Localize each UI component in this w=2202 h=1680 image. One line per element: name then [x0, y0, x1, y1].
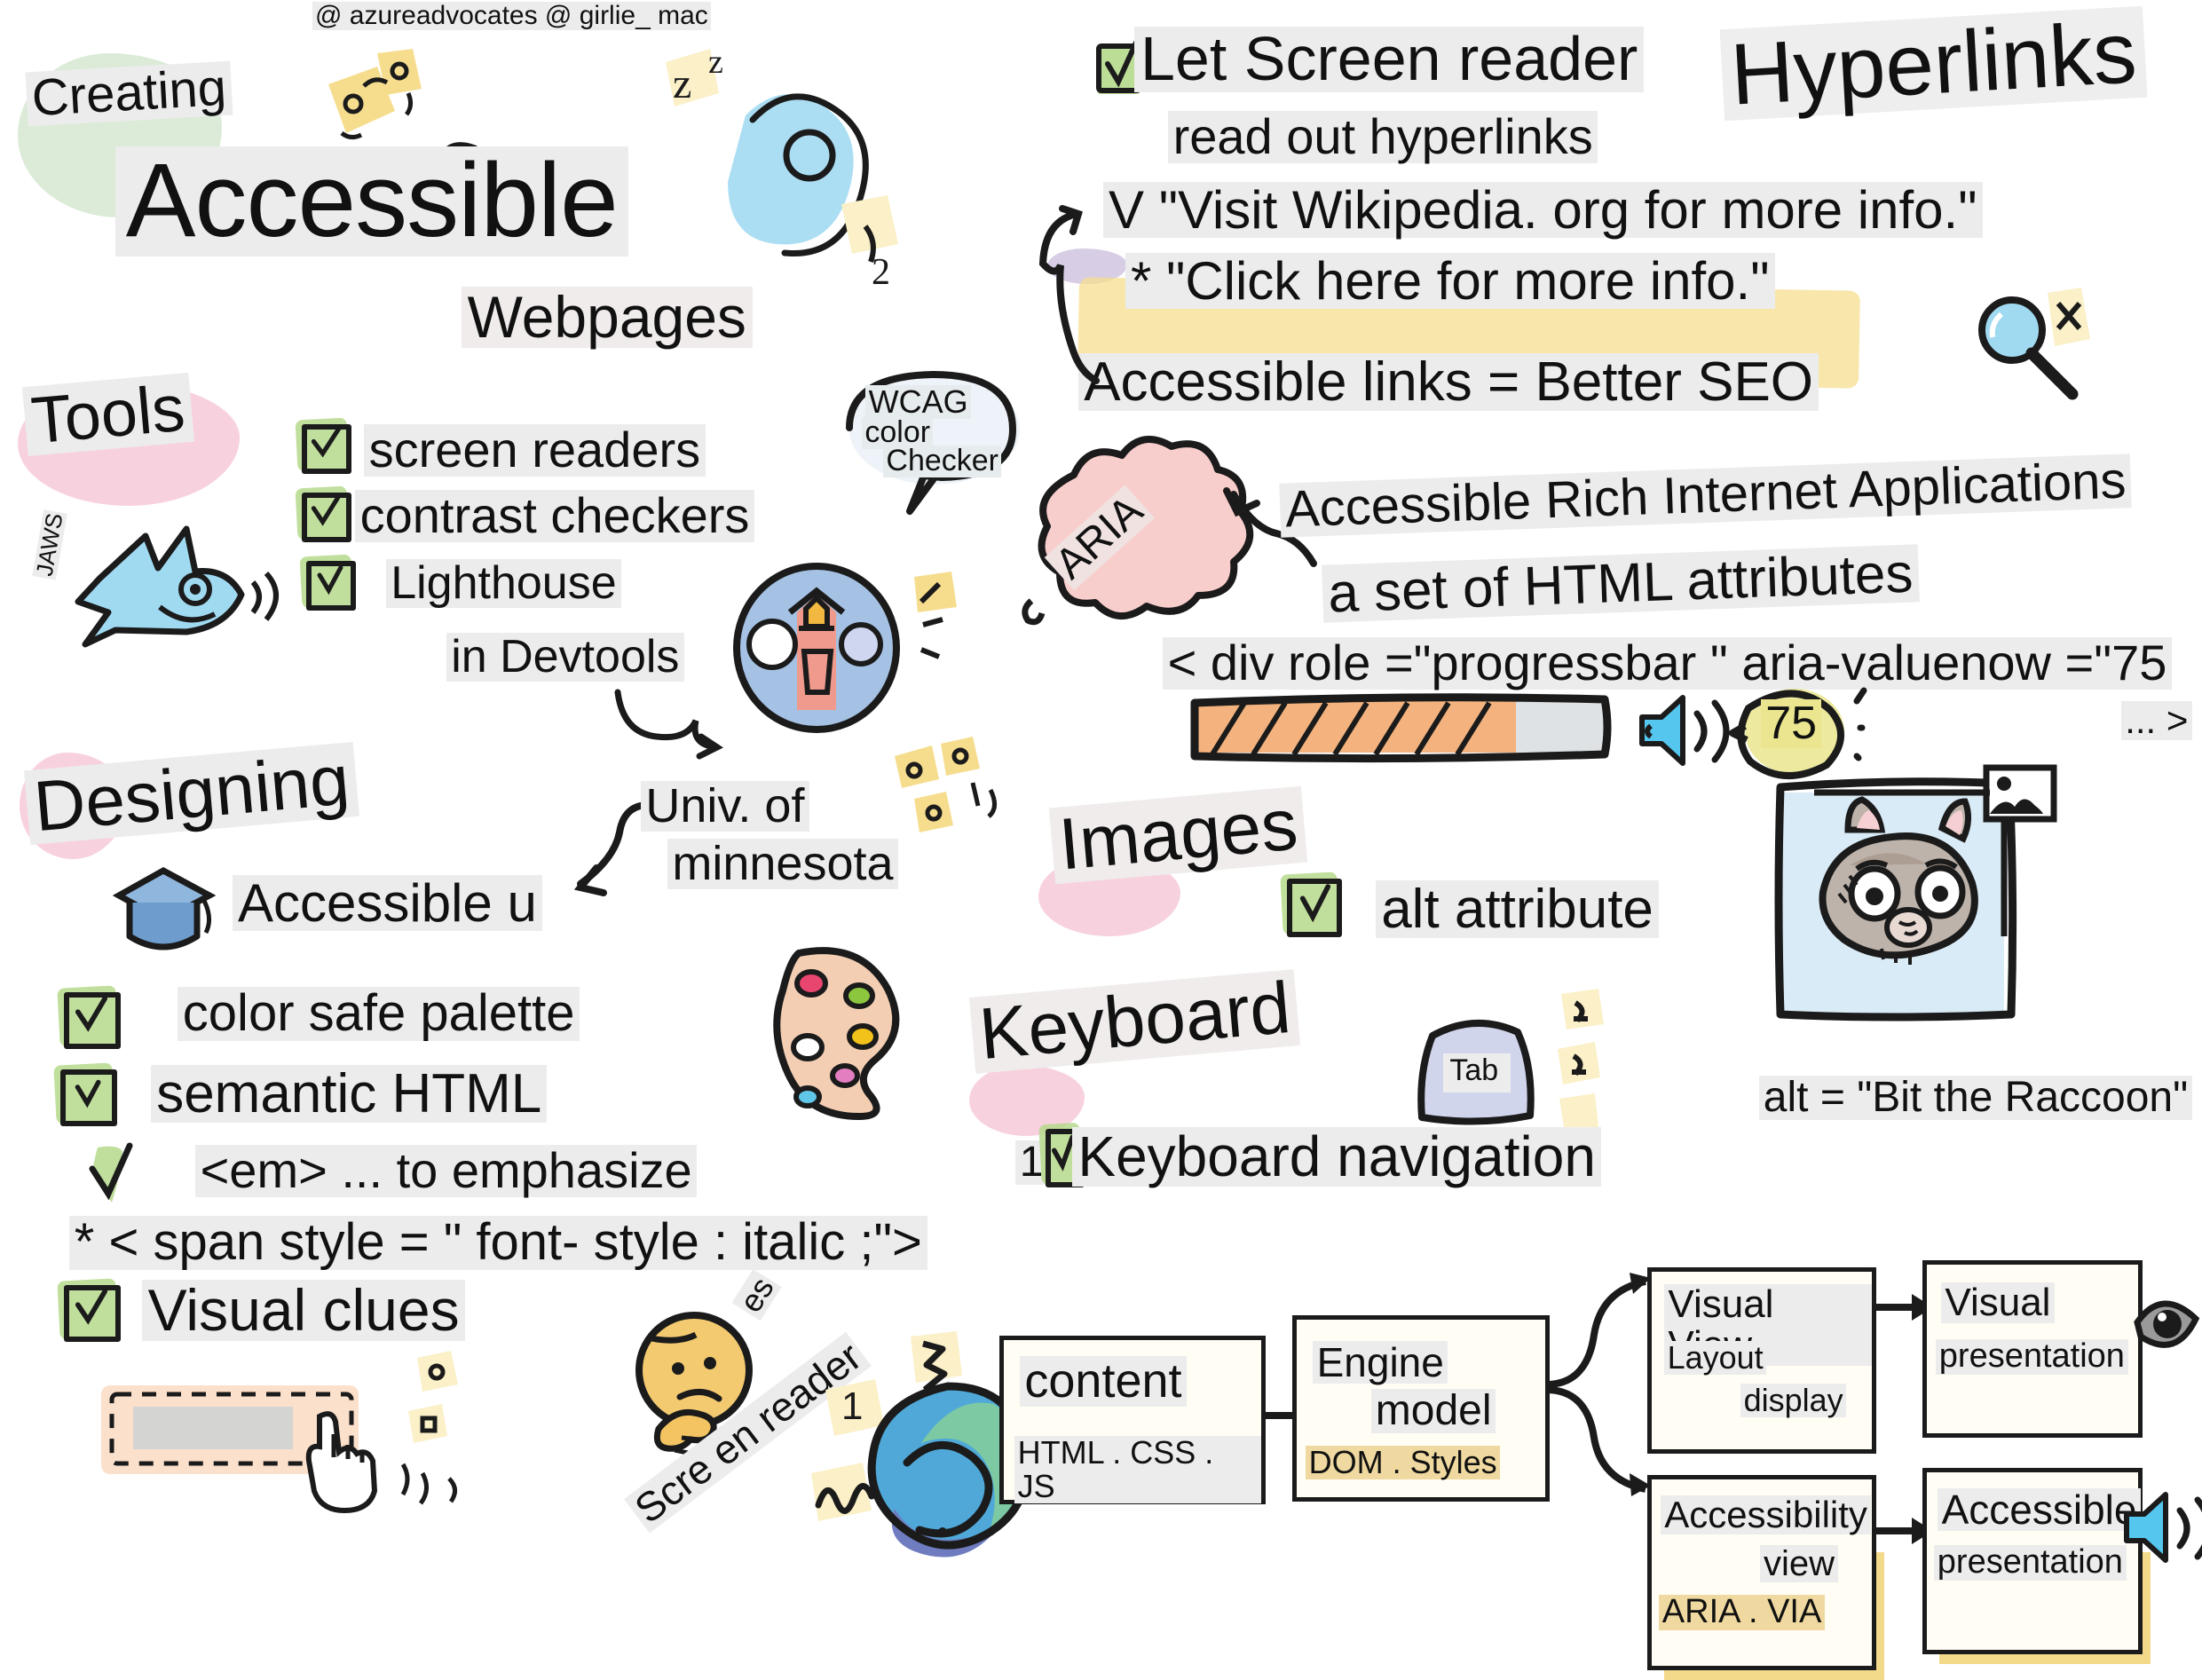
designing-item-semantic-html: semantic HTML	[151, 1065, 547, 1123]
sketchnote-canvas: @ azureadvocates @ girlie_ mac Creating …	[0, 0, 2202, 1552]
hyperlinks-checkbox-line2: read out hyperlinks	[1168, 111, 1598, 163]
flow-node-content: content HTML . CSS . JS	[999, 1336, 1266, 1504]
tab-key-label: Tab	[1447, 1055, 1502, 1087]
keyboard-nav-label: Keyboard navigation	[1072, 1127, 1601, 1187]
title-creating: Creating	[25, 61, 233, 127]
credits: @ azureadvocates @ girlie_ mac	[312, 2, 711, 30]
keyboard-heading: Keyboard	[969, 969, 1301, 1074]
flow-node-visual-presentation-sub: presentation	[1936, 1339, 2128, 1375]
checkbox-alt-attribute[interactable]	[1287, 879, 1342, 937]
check-icon	[85, 1142, 147, 1208]
sparkle-doodles-visual	[391, 1349, 497, 1518]
title-webpages-text: Webpages	[462, 287, 753, 348]
checkbox-em-emphasize[interactable]	[85, 1142, 135, 1195]
flow-node-engine-sub: DOM . Styles	[1306, 1446, 1500, 1479]
hyperlinks-bad-example: * "Click here for more info."	[1125, 253, 1775, 309]
images-heading-text: Images	[1049, 786, 1308, 885]
checkbox-contrast-checkers[interactable]	[302, 493, 351, 542]
confetti-doodle	[888, 737, 1030, 879]
flow-node-visual-view: Visual View Layout display	[1647, 1267, 1876, 1454]
tab-key-icon: Tab	[1402, 998, 1562, 1132]
flow-node-content-sub: HTML . CSS . JS	[1014, 1436, 1261, 1503]
course-source-line1: Univ. of	[641, 781, 809, 832]
hyperlinks-heading: Hyperlinks	[1720, 6, 2148, 121]
hyperlinks-seo-note: Accessible links = Better SEO	[1078, 353, 1819, 411]
title-webpages: Webpages	[462, 287, 753, 348]
lighthouse-sub: in Devtools	[446, 633, 684, 682]
flow-node-visual-view-sub: Layout	[1664, 1341, 1766, 1375]
credits-text: @ azureadvocates @ girlie_ mac	[312, 2, 711, 30]
check-icon	[73, 1075, 105, 1114]
tab-arrow-doodles	[1549, 985, 1638, 1136]
magnifier-icon	[1966, 284, 2108, 417]
title-creating-text: Creating	[25, 61, 233, 127]
tool-item-screen-readers-label: screen readers	[364, 424, 706, 477]
designing-antipattern: * < span style = " font- style : italic …	[69, 1216, 927, 1270]
lighthouse-sub-text: in Devtools	[446, 633, 684, 682]
tool-item-lighthouse-label: Lighthouse	[386, 559, 621, 608]
aria-code: < div role ="progressbar " aria-valuenow…	[1163, 637, 2172, 690]
eye-icon	[2121, 1278, 2202, 1367]
cursor-icon	[293, 1408, 391, 1514]
check-icon	[75, 996, 108, 1037]
flow-node-accessibility-view-sub: ARIA . VIA	[1659, 1595, 1825, 1630]
alt-value: alt = "Bit the Raccoon"	[1759, 1076, 2192, 1120]
flow-node-accessibility-view-title: Accessibility	[1661, 1495, 1871, 1534]
wcag-bubble-line3: Checker	[883, 446, 1001, 477]
checkbox-screen-readers[interactable]	[302, 424, 351, 474]
flow-node-visual-presentation-title: Visual	[1941, 1282, 2055, 1323]
tools-heading-text: Tools	[22, 373, 194, 456]
check-icon	[311, 494, 341, 530]
tool-item-contrast-checkers-label: contrast checkers	[355, 490, 754, 542]
flow-node-visual-presentation: Visual presentation	[1922, 1260, 2143, 1438]
alt-attribute-label: alt attribute	[1376, 880, 1659, 938]
flow-node-engine: Engine model DOM . Styles	[1292, 1315, 1550, 1502]
visual-clues-label: Visual clues	[142, 1280, 465, 1341]
designing-item-em: <em> ... to emphasize	[195, 1145, 697, 1197]
check-icon	[1298, 884, 1331, 925]
flow-node-content-title: content	[1020, 1356, 1187, 1407]
aria-code-tail: ... >	[2121, 701, 2192, 740]
svg-text:z: z	[673, 60, 691, 107]
designing-item-color-safe-palette: color safe palette	[178, 987, 580, 1041]
tools-heading: Tools	[22, 373, 194, 456]
course-source-line2: minnesota	[667, 839, 898, 889]
title-accessible-text: Accessible	[115, 146, 628, 256]
course-label: Accessible u	[233, 875, 542, 931]
hyperlinks-heading-text: Hyperlinks	[1720, 6, 2148, 121]
svg-text:2: 2	[872, 252, 890, 293]
keyboard-heading-text: Keyboard	[969, 969, 1301, 1074]
checkbox-visual-clues[interactable]	[64, 1285, 121, 1342]
checkbox-color-safe-palette[interactable]	[64, 992, 121, 1049]
bracket-arrow	[1025, 200, 1123, 448]
flow-node-accessibility-view: Accessibility view ARIA . VIA	[1647, 1475, 1876, 1670]
flow-node-accessible-presentation: Accessible presentation	[1922, 1468, 2143, 1654]
aria-subtitle: a set of HTML attributes	[1322, 544, 1920, 622]
wcag-bubble-line1: WCAG	[865, 385, 971, 419]
check-icon	[75, 1289, 108, 1329]
checkbox-lighthouse[interactable]	[306, 561, 356, 611]
sparkle-doodles-lighthouse	[896, 568, 976, 692]
progress-value-text: 75	[1761, 699, 1821, 748]
flow-node-engine-title2: model	[1371, 1389, 1496, 1433]
checkbox-semantic-html[interactable]	[60, 1069, 117, 1126]
progressbar-icon	[1189, 690, 1615, 770]
hyperlinks-good-example: V "Visit Wikipedia. org for more info."	[1103, 182, 1983, 238]
flow-branch	[1541, 1260, 1656, 1509]
tool-item-lighthouse: Lighthouse	[386, 559, 621, 608]
raccoon-photo-icon	[1757, 759, 2068, 1052]
flow-node-engine-title: Engine	[1313, 1341, 1448, 1384]
images-heading: Images	[1049, 786, 1308, 885]
graduation-cap-icon	[115, 865, 222, 963]
flow-node-accessibility-view-title2: view	[1760, 1545, 1838, 1582]
shark-icon	[53, 497, 302, 674]
check-icon	[315, 563, 345, 598]
aria-expansion: Accessible Rich Internet Applications	[1279, 454, 2132, 537]
title-accessible: Accessible	[115, 146, 628, 256]
tool-item-contrast-checkers: contrast checkers	[355, 490, 754, 542]
flow-node-accessible-presentation-title: Accessible	[1938, 1488, 2141, 1531]
palette-icon	[746, 941, 914, 1118]
check-icon	[311, 426, 341, 461]
lighthouse-icon	[728, 559, 905, 737]
hyperlinks-checkbox-line1: Let Screen reader	[1134, 27, 1644, 92]
flow-speaker-icon	[2118, 1487, 2202, 1567]
flow-node-accessible-presentation-sub: presentation	[1934, 1545, 2127, 1581]
tool-item-screen-readers: screen readers	[364, 424, 706, 477]
flow-node-visual-view-sub2: display	[1740, 1384, 1846, 1417]
